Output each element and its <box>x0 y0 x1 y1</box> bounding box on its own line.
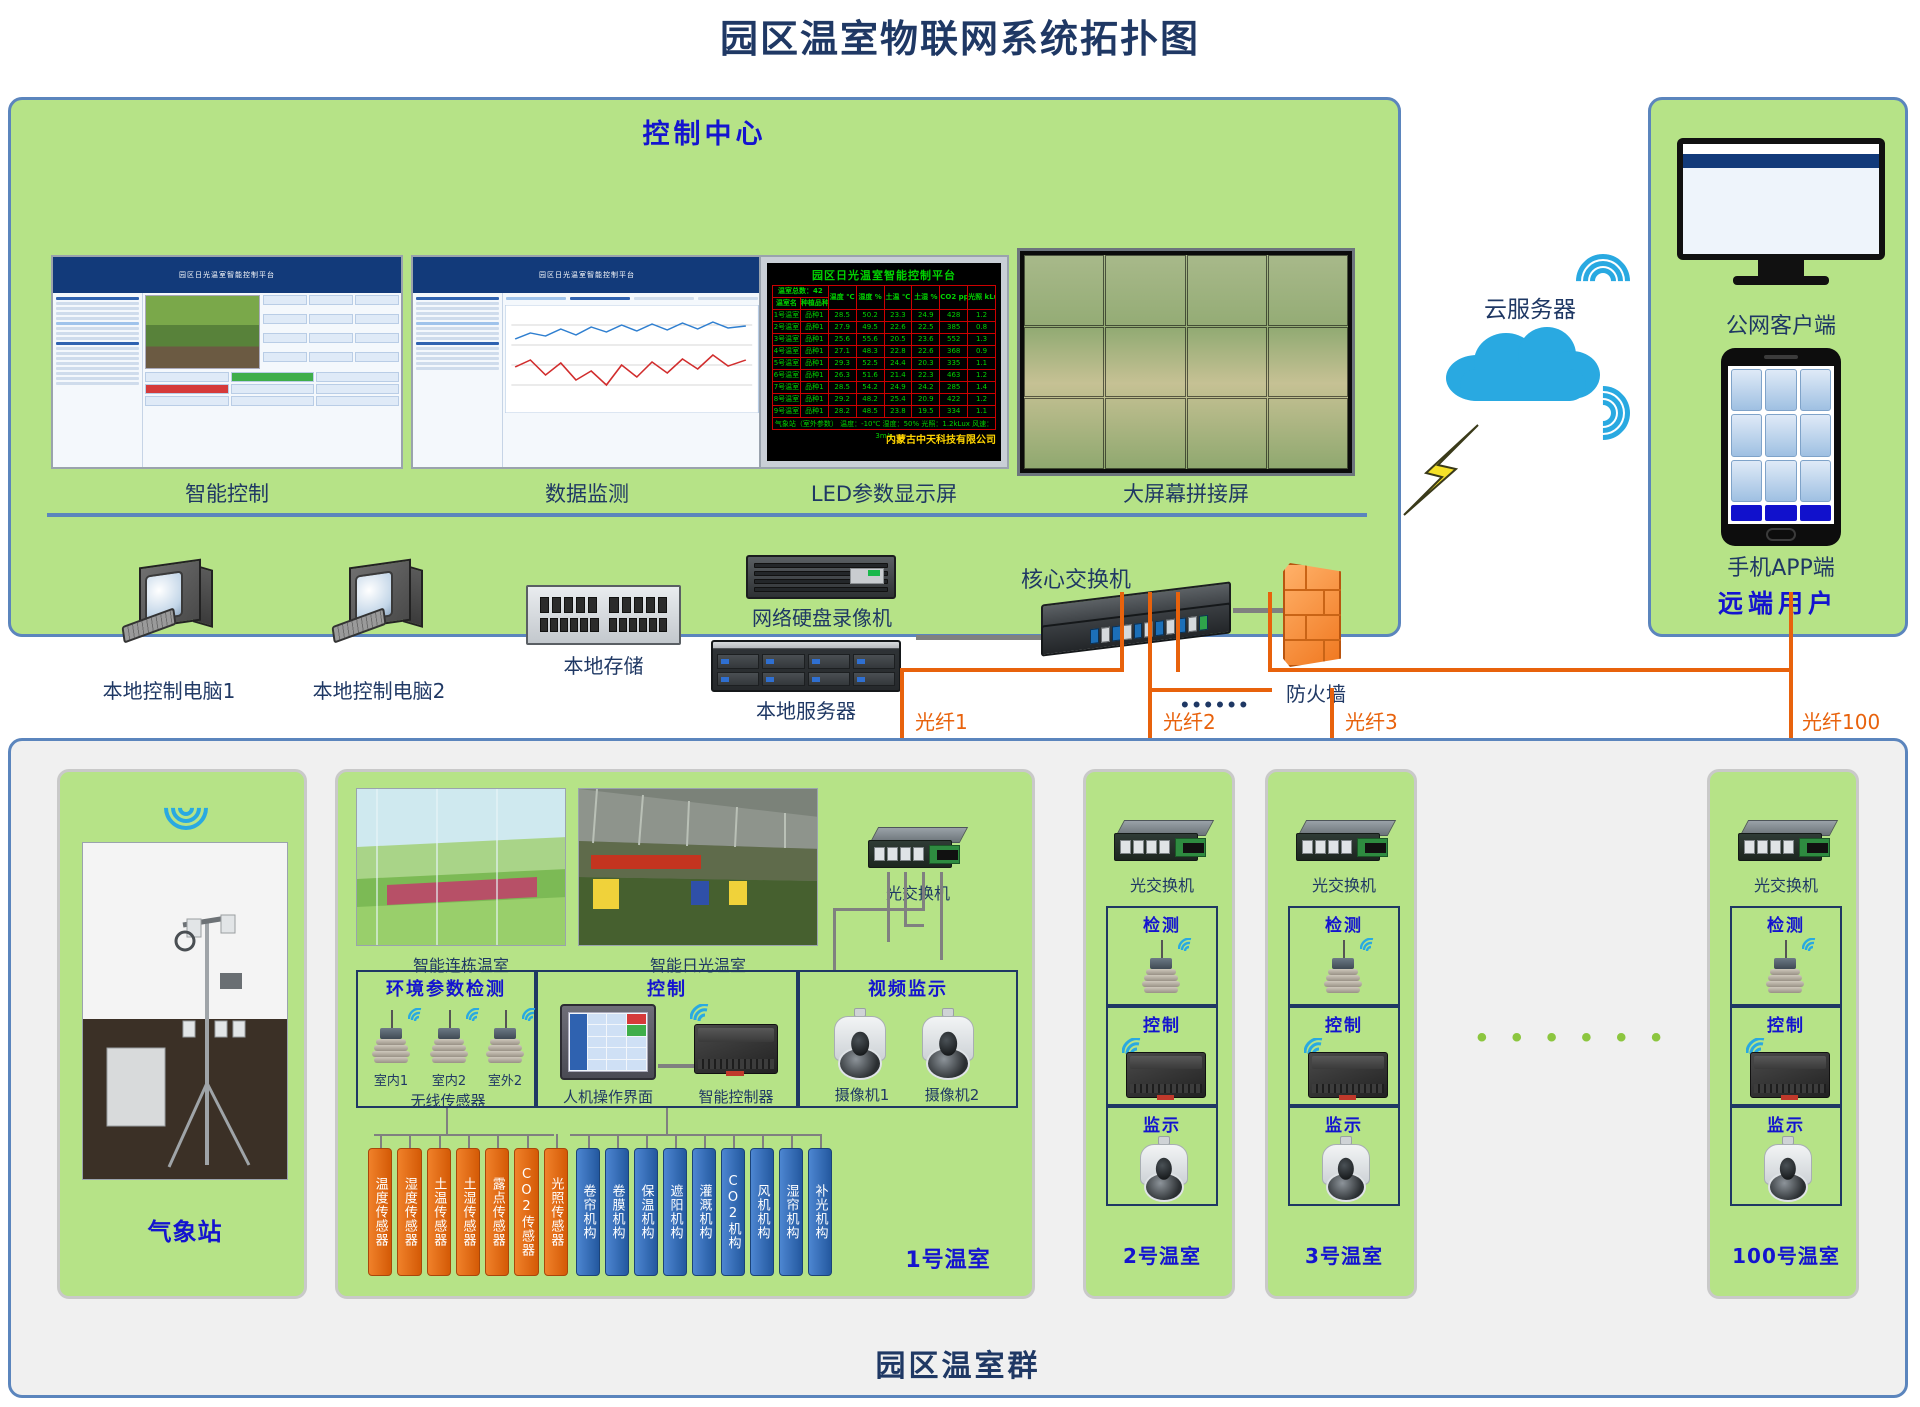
switch-link-d <box>940 872 943 960</box>
local-control-pc-2-label: 本地控制电脑2 <box>279 675 479 704</box>
monitor-stand <box>1758 260 1804 276</box>
led-table-cell: 23.8 <box>884 406 912 418</box>
wifi-icon-gh2-sensor <box>1178 938 1194 952</box>
gh100-monitor-title: 监示 <box>1732 1108 1840 1136</box>
actuator-chip[interactable]: 补光机构 <box>808 1148 832 1276</box>
storage-slot-row-2 <box>540 618 667 633</box>
wireless-sensor-indoor-1-icon[interactable] <box>372 1010 410 1068</box>
greenhouse-2-card: 光交换机 检测 控制 <box>1083 769 1235 1299</box>
chip-tick <box>762 1134 764 1148</box>
chip-tick <box>439 1134 441 1148</box>
public-network-client-label: 公网客户端 <box>1661 308 1901 340</box>
greenhouse-100-card: 光交换机 检测 控制 <box>1707 769 1859 1299</box>
actuator-bus-drop <box>666 1108 668 1134</box>
control-center-divider <box>47 513 1367 517</box>
sensor-indoor-1-label: 室内1 <box>366 1070 416 1089</box>
greenhouse-photo-multi-span <box>356 788 566 946</box>
phone-screen <box>1728 366 1834 524</box>
cloud-icon <box>1440 325 1610 403</box>
sensor-chip-row: 温度传感器湿度传感器土温传感器土湿传感器露点传感器CO2传感器光照传感器 <box>368 1148 568 1276</box>
gh2-monitor-title: 监示 <box>1108 1108 1216 1136</box>
fiber-label-100: 光纤100 <box>1802 706 1880 735</box>
led-table-cell: 50.2 <box>856 310 884 322</box>
led-table-cell: 463 <box>940 370 968 382</box>
intelligent-controller-label: 智能控制器 <box>680 1086 792 1107</box>
sensor-chip[interactable]: 露点传感器 <box>485 1148 509 1276</box>
switch-link-c-h <box>833 908 925 911</box>
led-table-cell: 品种1 <box>800 406 828 418</box>
chip-tick <box>646 1134 648 1148</box>
app-icon[interactable] <box>1731 369 1762 411</box>
greenhouse-ellipsis: • • • • • • <box>1473 1021 1673 1055</box>
weather-station-illustration <box>83 843 288 1180</box>
local-control-pc-1-label: 本地控制电脑1 <box>69 675 269 704</box>
camera-1-label: 摄像机1 <box>820 1084 904 1105</box>
chip-tick <box>409 1134 411 1148</box>
control-center-title: 控制中心 <box>11 112 1398 151</box>
gh2-control-box: 控制 <box>1106 1006 1218 1106</box>
led-table-cell: 51.6 <box>856 370 884 382</box>
led-table-cell: 22.6 <box>912 346 940 358</box>
gh100-camera-icon[interactable] <box>1764 1136 1812 1202</box>
phone-home-button[interactable] <box>1766 528 1796 541</box>
led-table-cell: 3号温室 <box>773 334 801 346</box>
led-table-row: 5号温室品种129.352.524.420.33351.1 <box>773 358 996 370</box>
led-table-cell: 19.5 <box>912 406 940 418</box>
screen-label-intelligent-control: 智能控制 <box>51 478 403 508</box>
led-table-cell: 8号温室 <box>773 394 801 406</box>
switch-link-c-v <box>833 908 836 970</box>
greenhouse-photo-solar <box>578 788 818 946</box>
sensor-bus-drop <box>446 1108 448 1134</box>
screen-label-led: LED参数显示屏 <box>749 478 1019 508</box>
local-storage-label: 本地存储 <box>511 650 696 679</box>
sensor-chip[interactable]: 湿度传感器 <box>397 1148 421 1276</box>
firewall-label: 防火墙 <box>1266 678 1366 707</box>
chip-tick <box>588 1134 590 1148</box>
local-server-label: 本地服务器 <box>711 695 901 724</box>
chip-tick <box>733 1134 735 1148</box>
actuator-chip[interactable]: 湿帘机构 <box>779 1148 803 1276</box>
hmi-panel-icon[interactable] <box>560 1004 656 1080</box>
led-total-count: 温室总数：42 <box>773 286 829 298</box>
greenhouse-3-optical-switch-label: 光交换机 <box>1268 872 1420 896</box>
gh100-sensor-icon[interactable] <box>1766 940 1804 998</box>
led-table-cell: 26.3 <box>828 370 856 382</box>
actuator-chip[interactable]: 卷膜机构 <box>605 1148 629 1276</box>
led-table-cell: 28.5 <box>828 310 856 322</box>
greenhouse-2-label: 2号温室 <box>1086 1240 1238 1269</box>
led-table-cell: 22.8 <box>884 346 912 358</box>
gh3-camera-icon[interactable] <box>1322 1136 1370 1202</box>
screen-data-monitoring[interactable]: 园区日光温室智能控制平台 <box>411 255 763 469</box>
environment-detection-box: 环境参数检测 室内1 <box>356 970 536 1108</box>
core-switch-icon[interactable] <box>1041 593 1231 655</box>
actuator-chip-row: 卷帘机构卷膜机构保温机构遮阳机构灌溉机构CO2机构风机机构湿帘机构补光机构 <box>576 1148 832 1276</box>
greenhouse-1-label: 1号温室 <box>878 1242 1018 1274</box>
gh3-control-box: 控制 <box>1288 1006 1400 1106</box>
video-surveillance-box: 视频监示 摄像机1 摄像机2 <box>798 970 1018 1108</box>
chip-tick <box>468 1134 470 1148</box>
led-table-row: 9号温室品种128.248.523.819.53341.1 <box>773 406 996 418</box>
led-col-temp: 温度 ℃ <box>828 286 856 310</box>
multi-span-greenhouse-illustration <box>357 789 566 946</box>
greenhouse-1-card: 智能连栋温室 智能日光温室 光交换机 <box>335 769 1035 1299</box>
led-col-light: 光照 kLux <box>968 286 996 310</box>
weather-station-photo <box>82 842 288 1180</box>
app-chart-area <box>503 293 761 467</box>
public-network-client-monitor[interactable] <box>1677 138 1885 285</box>
led-table-cell: 品种1 <box>800 310 828 322</box>
led-table-cell: 1.2 <box>968 370 996 382</box>
led-table-cell: 49.5 <box>856 322 884 334</box>
led-table-cell: 1.1 <box>968 358 996 370</box>
app-body-2 <box>413 293 761 467</box>
led-col-soilhum: 土湿 % <box>912 286 940 310</box>
gh2-monitor-box: 监示 <box>1106 1106 1218 1206</box>
sensor-indoor-2-label: 室内2 <box>424 1070 474 1089</box>
gh2-detect-title: 检测 <box>1108 908 1216 936</box>
led-table-cell: 335 <box>940 358 968 370</box>
firewall-icon[interactable] <box>1283 563 1345 673</box>
sensor-chip[interactable]: 温度传感器 <box>368 1148 392 1276</box>
hmi-to-plc-link <box>658 1064 694 1068</box>
led-table-cell: 48.5 <box>856 406 884 418</box>
led-table-cell: 0.8 <box>968 322 996 334</box>
gh3-detect-box: 检测 <box>1288 906 1400 1006</box>
greenhouse-100-label: 100号温室 <box>1710 1240 1862 1269</box>
control-box: 控制 人机操作界面 <box>536 970 798 1108</box>
chip-tick <box>556 1134 558 1148</box>
led-table-row: 3号温室品种125.655.620.523.65521.3 <box>773 334 996 346</box>
fiber-route-100-h <box>1268 668 1793 672</box>
switch-link-c <box>922 872 925 908</box>
gh100-monitor-box: 监示 <box>1730 1106 1842 1206</box>
fiber-route-1-h <box>900 668 1124 672</box>
wireless-sensor-indoor-2-icon[interactable] <box>430 1010 468 1068</box>
led-table-cell: 22.5 <box>912 322 940 334</box>
fiber-route-3-h <box>1148 688 1272 692</box>
led-table-row: 4号温室品种127.148.322.822.63680.9 <box>773 346 996 358</box>
led-parameter-display[interactable]: 园区日光温室智能控制平台 温室总数：42 温度 ℃ 湿度 % 土温 ℃ 土湿 %… <box>759 255 1009 469</box>
led-table-cell: 7号温室 <box>773 382 801 394</box>
monitor-base <box>1733 276 1829 285</box>
led-table-cell: 21.4 <box>884 370 912 382</box>
screen-label-data-monitoring: 数据监测 <box>411 478 763 508</box>
greenhouse-1-optical-switch-label: 光交换机 <box>853 880 983 904</box>
led-table-cell: 24.9 <box>884 382 912 394</box>
gh2-control-title: 控制 <box>1108 1008 1216 1036</box>
led-col-soiltemp: 土温 ℃ <box>884 286 912 310</box>
led-table-cell: 422 <box>940 394 968 406</box>
greenhouse-3-optical-switch-icon[interactable] <box>1296 820 1392 866</box>
led-table-cell: 25.6 <box>828 334 856 346</box>
led-table-cell: 品种1 <box>800 382 828 394</box>
led-table-cell: 27.1 <box>828 346 856 358</box>
app-content <box>143 293 401 467</box>
weather-station-card: 气象站 <box>57 769 307 1299</box>
led-table-cell: 品种1 <box>800 346 828 358</box>
solar-greenhouse-illustration <box>579 789 818 946</box>
wireless-sensor-caption: 无线传感器 <box>358 1090 538 1111</box>
led-table-cell: 55.6 <box>856 334 884 346</box>
actuator-chip[interactable]: CO2机构 <box>721 1148 745 1276</box>
gh100-control-title: 控制 <box>1732 1008 1840 1036</box>
wifi-icon-sensor-2 <box>466 1008 482 1022</box>
led-col-variety: 种植品种 <box>800 298 828 310</box>
led-table-cell: 1.2 <box>968 310 996 322</box>
nvr-label: 网络硬盘录像机 <box>727 602 917 631</box>
camera-1-icon[interactable] <box>834 1008 886 1080</box>
chip-tick <box>791 1134 793 1148</box>
control-box-title: 控制 <box>538 972 796 1001</box>
led-table-cell: 品种1 <box>800 334 828 346</box>
greenhouse-2-optical-switch-icon[interactable] <box>1114 820 1210 866</box>
gh100-detect-title: 检测 <box>1732 908 1840 936</box>
chip-tick <box>820 1134 822 1148</box>
led-table-header-row: 温室总数：42 温度 ℃ 湿度 % 土温 ℃ 土湿 % CO2 ppm 光照 k… <box>773 286 996 298</box>
led-table-cell: 28.2 <box>828 406 856 418</box>
network-video-recorder-icon[interactable] <box>746 555 896 599</box>
led-title: 园区日光温室智能控制平台 <box>772 267 996 285</box>
environment-detection-title: 环境参数检测 <box>358 972 534 1001</box>
greenhouse-group-title: 园区温室群 <box>11 1341 1905 1385</box>
gh3-monitor-box: 监示 <box>1288 1106 1400 1206</box>
weather-station-wifi-arc-3 <box>155 777 217 839</box>
actuator-chip[interactable]: 灌溉机构 <box>692 1148 716 1276</box>
greenhouse-3-card: 光交换机 检测 控制 <box>1265 769 1417 1299</box>
actuator-chip[interactable]: 风机机构 <box>750 1148 774 1276</box>
gh3-controller-icon[interactable] <box>1308 1052 1388 1098</box>
gh2-camera-icon[interactable] <box>1140 1136 1188 1202</box>
wifi-icon-plc <box>690 1004 712 1022</box>
fiber-label-3: 光纤3 <box>1345 706 1398 735</box>
led-table-cell: 23.6 <box>912 334 940 346</box>
app-icon[interactable] <box>1731 460 1762 502</box>
greenhouse-100-optical-switch-icon[interactable] <box>1738 820 1834 866</box>
sensor-chip[interactable]: 土温传感器 <box>427 1148 451 1276</box>
led-table-cell: 23.3 <box>884 310 912 322</box>
fiber-label-1: 光纤1 <box>915 706 968 735</box>
gh2-controller-icon[interactable] <box>1126 1052 1206 1098</box>
app-icon[interactable] <box>1800 460 1831 502</box>
led-table: 温室总数：42 温度 ℃ 湿度 % 土温 ℃ 土湿 % CO2 ppm 光照 k… <box>772 285 996 418</box>
mobile-app-phone[interactable] <box>1721 348 1841 546</box>
wireless-sensor-outdoor-icon[interactable] <box>486 1010 524 1068</box>
led-table-cell: 24.4 <box>884 358 912 370</box>
led-table-cell: 22.3 <box>912 370 940 382</box>
camera-2-icon[interactable] <box>922 1008 974 1080</box>
led-table-row: 1号温室品种128.550.223.324.94281.2 <box>773 310 996 322</box>
video-wall-grid <box>1024 255 1348 469</box>
led-col-co2: CO2 ppm <box>940 286 968 310</box>
led-table-cell: 29.2 <box>828 394 856 406</box>
monitor-screen <box>1683 144 1879 254</box>
led-table-cell: 品种1 <box>800 358 828 370</box>
gh100-detect-box: 检测 <box>1730 906 1842 1006</box>
actuator-chip[interactable]: 保温机构 <box>634 1148 658 1276</box>
led-col-hum: 湿度 % <box>856 286 884 310</box>
chip-tick <box>704 1134 706 1148</box>
led-table-cell: 品种1 <box>800 322 828 334</box>
led-footer: 气象站（室外参数） 温度：-10℃ 湿度：50% 光照：1.2kLux 风速：3… <box>772 418 996 430</box>
gh3-detect-title: 检测 <box>1290 908 1398 936</box>
page-title: 园区温室物联网系统拓扑图 <box>0 8 1920 63</box>
led-table-cell: 1.1 <box>968 406 996 418</box>
remote-users-title: 远端用户 <box>1651 584 1905 620</box>
local-control-pc-2-icon[interactable] <box>331 563 427 641</box>
server-drive-bays <box>717 654 895 686</box>
wireless-lightning-icon <box>1368 415 1488 525</box>
intelligent-controller-icon[interactable] <box>694 1024 778 1074</box>
app-header-title-2: 园区日光温室智能控制平台 <box>413 257 761 293</box>
led-table-cell: 1号温室 <box>773 310 801 322</box>
gh3-sensor-icon[interactable] <box>1324 940 1362 998</box>
led-table-cell: 25.4 <box>884 394 912 406</box>
led-table-cell: 1.3 <box>968 334 996 346</box>
app-body <box>53 293 401 467</box>
local-storage-icon[interactable] <box>526 585 681 645</box>
led-table-cell: 9号温室 <box>773 406 801 418</box>
fiber-trunk-100 <box>1268 592 1272 672</box>
greenhouse-2-optical-switch-label: 光交换机 <box>1086 872 1238 896</box>
led-table-cell: 1.2 <box>968 394 996 406</box>
camera-2-label: 摄像机2 <box>910 1084 994 1105</box>
monitoring-line-chart <box>505 305 759 413</box>
led-table-cell: 28.5 <box>828 382 856 394</box>
storage-slot-row-1 <box>540 597 667 613</box>
chip-tick <box>675 1134 677 1148</box>
led-table-cell: 385 <box>940 322 968 334</box>
led-col-name: 温室名 <box>773 298 801 310</box>
led-table-cell: 20.5 <box>884 334 912 346</box>
wifi-icon-sensor-1 <box>408 1008 424 1022</box>
video-wall-screen[interactable] <box>1017 248 1355 476</box>
app-icon[interactable] <box>1765 460 1796 502</box>
greenhouse-3-label: 3号温室 <box>1268 1240 1420 1269</box>
led-table-cell: 48.2 <box>856 394 884 406</box>
app-icon[interactable] <box>1800 414 1831 456</box>
actuator-chip[interactable]: 卷帘机构 <box>576 1148 600 1276</box>
fiber-trunk-1 <box>1120 592 1124 672</box>
chip-tick <box>527 1134 529 1148</box>
switch-link-a <box>887 872 890 942</box>
core-switch-label: 核心交换机 <box>966 562 1186 594</box>
actuator-bus-line <box>570 1134 822 1136</box>
led-table-cell: 52.5 <box>856 358 884 370</box>
app-header-title: 园区日光温室智能控制平台 <box>53 257 401 293</box>
fiber-label-2: 光纤2 <box>1163 706 1216 735</box>
led-table-cell: 20.9 <box>912 394 940 406</box>
app-icon[interactable] <box>1765 414 1796 456</box>
led-table-row: 2号温室品种127.949.522.622.53850.8 <box>773 322 996 334</box>
app-icon[interactable] <box>1800 369 1831 411</box>
hmi-panel-label: 人机操作界面 <box>546 1086 670 1107</box>
gh3-control-title: 控制 <box>1290 1008 1398 1036</box>
switch-link-b <box>904 872 907 924</box>
chip-tick <box>497 1134 499 1148</box>
sensor-chip[interactable]: 土湿传感器 <box>456 1148 480 1276</box>
greenhouse-1-optical-switch-icon[interactable] <box>868 827 964 873</box>
led-table-cell: 285 <box>940 382 968 394</box>
led-table-cell: 5号温室 <box>773 358 801 370</box>
gh2-detect-box: 检测 <box>1106 906 1218 1006</box>
screen-label-video-wall: 大屏幕拼接屏 <box>1017 478 1355 508</box>
led-table-cell: 54.2 <box>856 382 884 394</box>
led-table-cell: 品种1 <box>800 370 828 382</box>
chip-tick <box>617 1134 619 1148</box>
led-table-cell: 29.3 <box>828 358 856 370</box>
gh2-sensor-icon[interactable] <box>1142 940 1180 998</box>
led-table-cell: 334 <box>940 406 968 418</box>
screen-intelligent-control[interactable]: 园区日光温室智能控制平台 <box>51 255 403 469</box>
led-table-row: 8号温室品种129.248.225.420.94221.2 <box>773 394 996 406</box>
greenhouse-100-optical-switch-label: 光交换机 <box>1710 872 1862 896</box>
led-table-cell: 24.9 <box>912 310 940 322</box>
led-table-cell: 27.9 <box>828 322 856 334</box>
link-server-to-switch <box>916 635 1041 640</box>
led-table-cell: 1.4 <box>968 382 996 394</box>
remote-users-panel: 公网客户端 手机APP端 远端用户 <box>1648 97 1908 637</box>
led-table-row: 7号温室品种128.554.224.924.22851.4 <box>773 382 996 394</box>
control-center-panel: 控制中心 园区日光温室智能控制平台 <box>8 97 1401 637</box>
monitor-bezel <box>1677 138 1885 260</box>
weather-station-label: 气象站 <box>60 1212 310 1247</box>
app-bottom-bar <box>1731 505 1831 521</box>
app-sidebar <box>53 293 143 467</box>
led-table-cell: 4号温室 <box>773 346 801 358</box>
gh3-monitor-title: 监示 <box>1290 1108 1398 1136</box>
led-table-cell: 6号温室 <box>773 370 801 382</box>
chip-tick <box>380 1134 382 1148</box>
led-table-cell: 20.3 <box>912 358 940 370</box>
led-table-cell: 品种1 <box>800 394 828 406</box>
phone-speaker <box>1764 355 1798 359</box>
led-table-cell: 552 <box>940 334 968 346</box>
sensor-chip[interactable]: CO2传感器 <box>514 1148 538 1276</box>
wifi-icon-gh3-sensor <box>1360 938 1376 952</box>
video-surveillance-title: 视频监示 <box>800 972 1016 1001</box>
led-table-cell: 22.6 <box>884 322 912 334</box>
local-control-pc-1-icon[interactable] <box>121 563 217 641</box>
link-switch-to-firewall <box>1233 608 1285 613</box>
fiber-trunk-3 <box>1176 592 1180 672</box>
led-table-body: 1号温室品种128.550.223.324.94281.22号温室品种127.9… <box>773 310 996 418</box>
gh100-control-box: 控制 <box>1730 1006 1842 1106</box>
led-table-cell: 48.3 <box>856 346 884 358</box>
led-table-cell: 0.9 <box>968 346 996 358</box>
led-table-cell: 368 <box>940 346 968 358</box>
switch-link-b-h <box>904 924 924 927</box>
gh100-controller-icon[interactable] <box>1750 1052 1830 1098</box>
app-sidebar-2 <box>413 293 503 467</box>
led-table-row: 6号温室品种126.351.621.422.34631.2 <box>773 370 996 382</box>
sensor-chip[interactable]: 光照传感器 <box>544 1148 568 1276</box>
led-table-cell: 24.2 <box>912 382 940 394</box>
mobile-app-label: 手机APP端 <box>1661 550 1901 582</box>
local-server-icon[interactable] <box>711 640 901 692</box>
led-inner: 园区日光温室智能控制平台 温室总数：42 温度 ℃ 湿度 % 土温 ℃ 土湿 %… <box>767 263 1001 461</box>
greenhouse-group-panel: 气象站 智能连栋温室 <box>8 738 1908 1398</box>
actuator-chip[interactable]: 遮阳机构 <box>663 1148 687 1276</box>
led-table-cell: 2号温室 <box>773 322 801 334</box>
app-icon[interactable] <box>1731 414 1762 456</box>
wifi-icon-gh100-sensor <box>1802 938 1818 952</box>
led-table-cell: 428 <box>940 310 968 322</box>
sensor-outdoor-label: 室外2 <box>480 1070 530 1089</box>
app-icon[interactable] <box>1765 369 1796 411</box>
